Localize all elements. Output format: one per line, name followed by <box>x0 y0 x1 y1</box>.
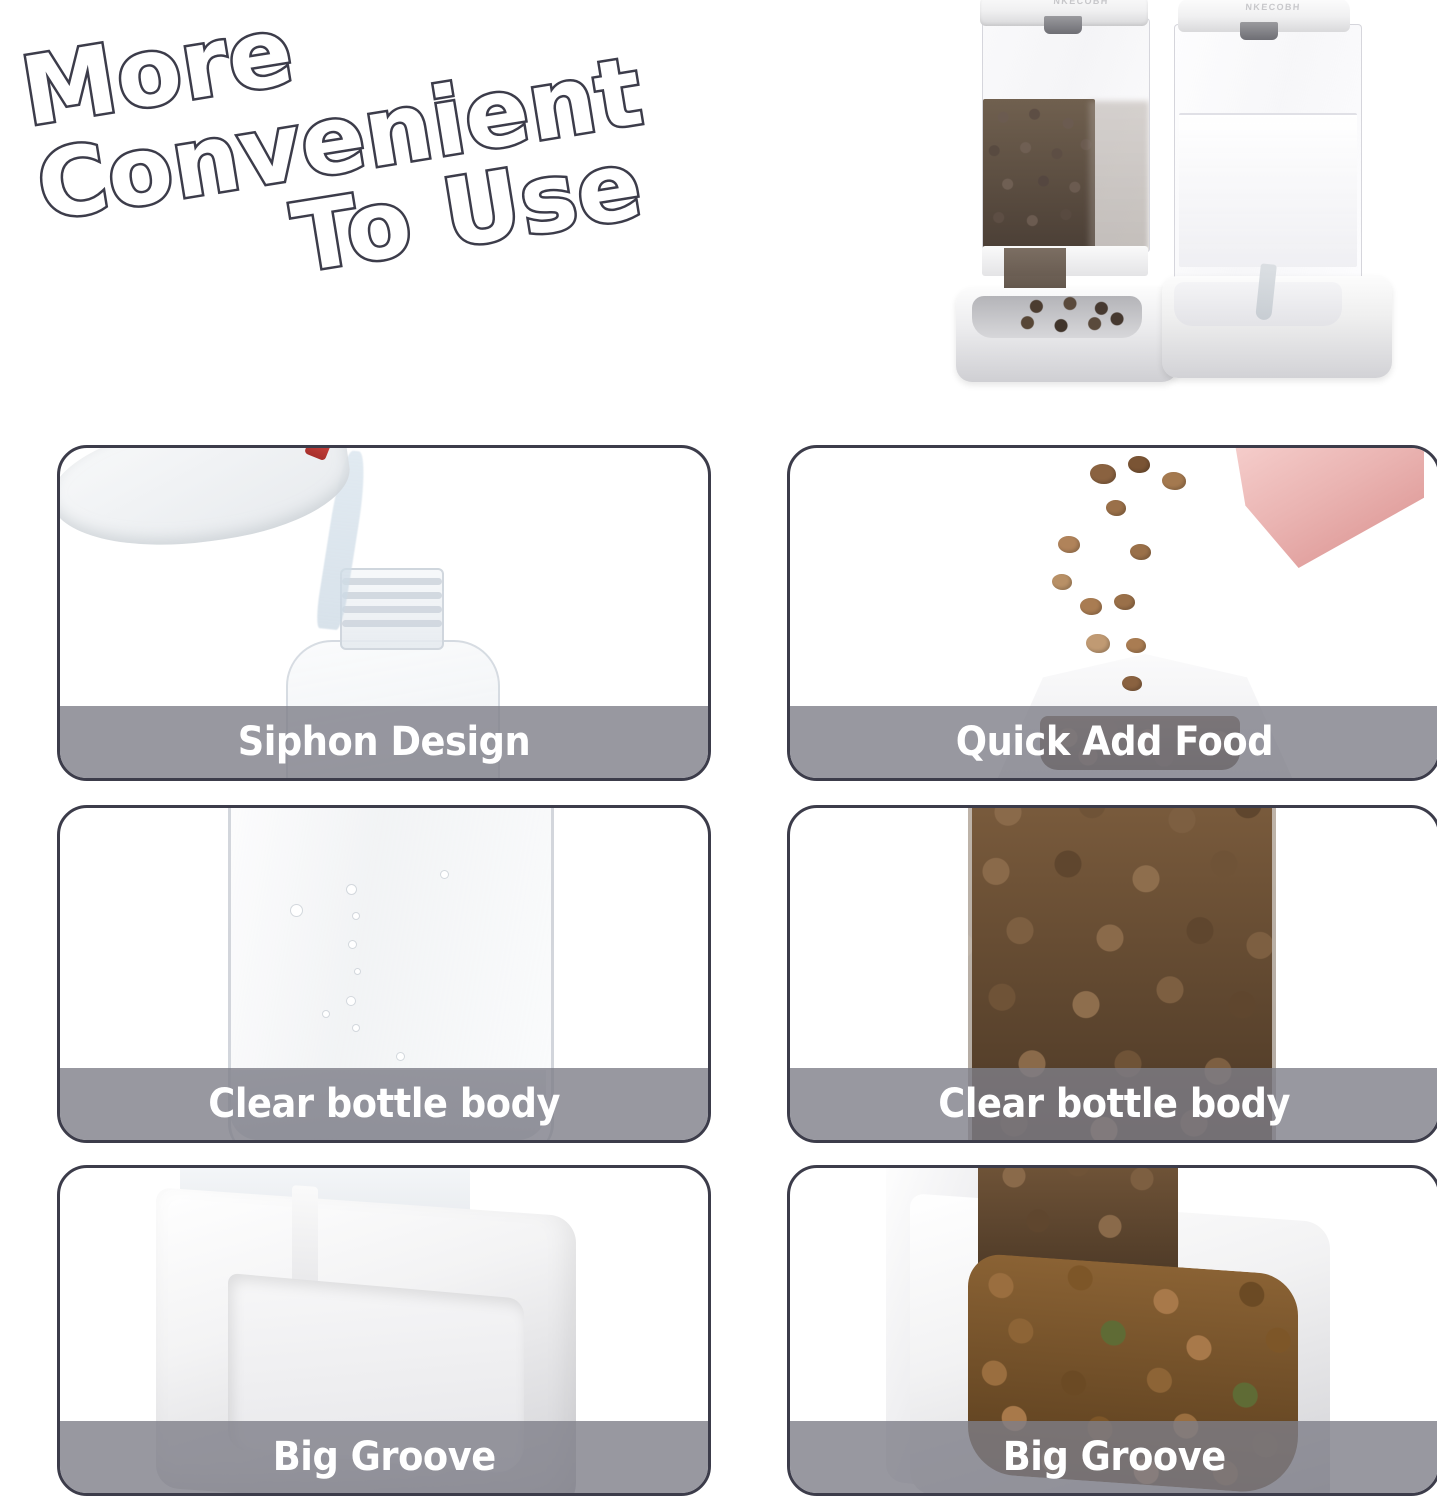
water-dispenser-unit: NKECOBH <box>1160 0 1430 416</box>
caption-band: Siphon Design <box>60 706 708 778</box>
brand-logo-food: NKECOBH <box>1040 0 1123 10</box>
product-hero-image: NKECOBH NKECOBH <box>920 0 1437 422</box>
feature-caption: Big Groove <box>1002 1434 1225 1480</box>
feature-card-clear-bottle-food[interactable]: Clear bottle body <box>787 805 1437 1143</box>
feature-caption: Big Groove <box>272 1434 495 1480</box>
food-pile <box>1014 292 1126 340</box>
brand-logo-water: NKECOBH <box>1232 2 1315 16</box>
feature-card-big-groove-water[interactable]: Big Groove <box>57 1165 711 1496</box>
feature-card-quick-add-food[interactable]: Quick Add Food <box>787 445 1437 781</box>
food-latch-icon <box>1044 16 1082 34</box>
food-kibble-fill <box>983 99 1095 251</box>
food-bowl-base <box>956 288 1178 382</box>
water-bowl-base <box>1162 276 1392 378</box>
caption-band: Clear bottle body <box>790 1068 1437 1140</box>
caption-band: Big Groove <box>60 1421 708 1493</box>
bottle-neck <box>340 568 444 650</box>
feature-caption: Clear bottle body <box>938 1081 1290 1127</box>
food-kibble-blur <box>1089 101 1149 251</box>
feature-caption: Siphon Design <box>238 719 531 765</box>
caption-band: Big Groove <box>790 1421 1437 1493</box>
caption-band: Quick Add Food <box>790 706 1437 778</box>
headline-line-1: More Convenient <box>10 0 929 237</box>
headline-block: More Convenient To Use <box>10 0 944 328</box>
hero-banner: More Convenient To Use NKECOBH <box>0 0 1437 440</box>
feature-caption: Quick Add Food <box>955 719 1272 765</box>
water-tank <box>1174 24 1362 292</box>
feature-caption: Clear bottle body <box>208 1081 560 1127</box>
water-latch-icon <box>1240 22 1278 40</box>
caption-band: Clear bottle body <box>60 1068 708 1140</box>
food-tank <box>982 18 1150 252</box>
feature-card-big-groove-food[interactable]: Big Groove <box>787 1165 1437 1496</box>
water-level <box>1179 113 1357 267</box>
feature-card-siphon-design[interactable]: Siphon Design <box>57 445 711 781</box>
food-bag-icon <box>1234 448 1424 568</box>
feature-card-clear-bottle-water[interactable]: Clear bottle body <box>57 805 711 1143</box>
headline-line-2: To Use <box>40 89 944 328</box>
source-bottle <box>60 448 357 562</box>
food-dispenser-unit: NKECOBH <box>956 0 1186 392</box>
